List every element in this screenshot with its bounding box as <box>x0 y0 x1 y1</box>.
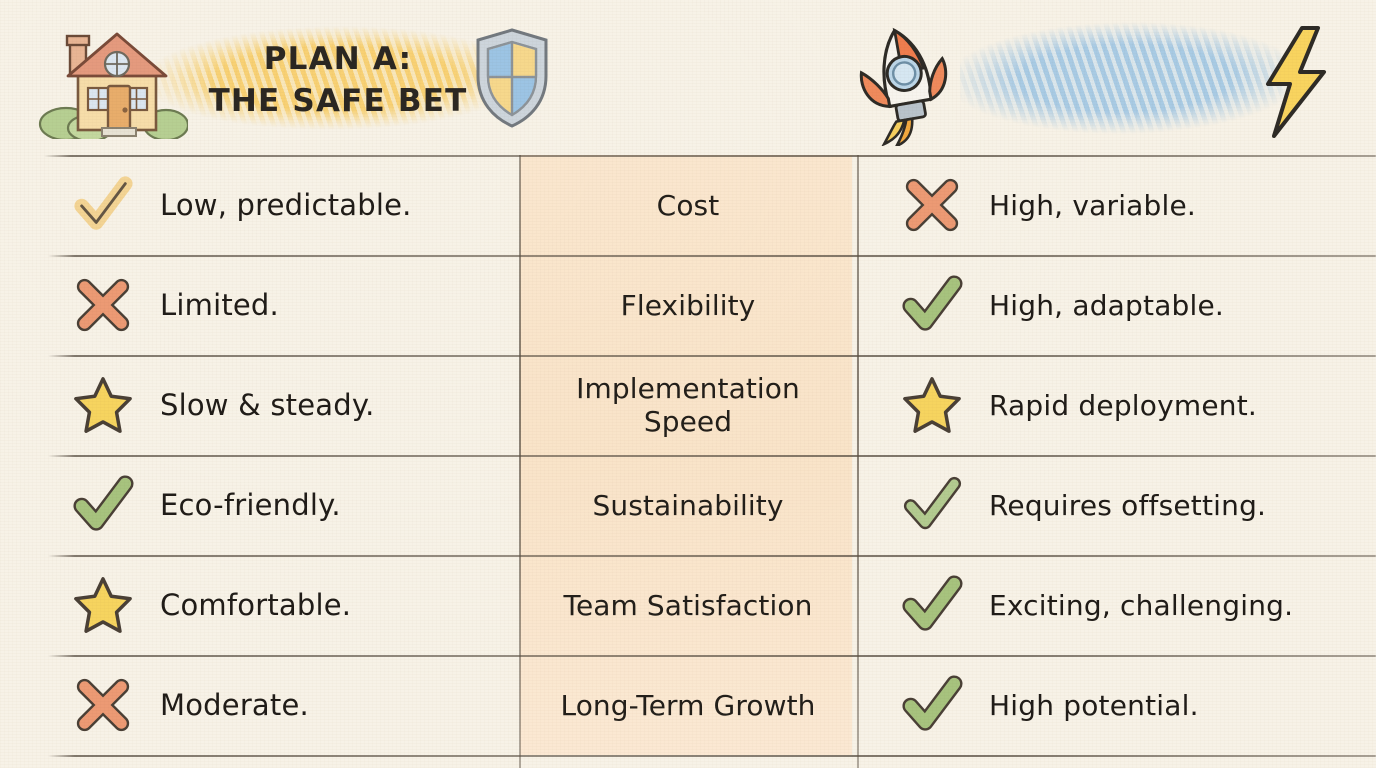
plan-b-value: High, variable. <box>989 189 1196 222</box>
check-green-icon <box>901 474 963 536</box>
table-row: Eco-friendly. Sustainability Requires of… <box>0 455 1376 555</box>
plan-b-value: High, adaptable. <box>989 289 1224 322</box>
criterion-label: Flexibility <box>621 289 756 322</box>
check-green-icon <box>901 674 963 736</box>
criterion-cell: Implementation Speed <box>519 355 857 455</box>
table-row: Comfortable. Team Satisfaction Exciting,… <box>0 555 1376 655</box>
plan-b-cell: High potential. <box>857 655 1376 755</box>
lightning-bolt-icon <box>1256 22 1334 146</box>
criterion-cell: Sustainability <box>519 455 857 555</box>
table-row: Slow & steady. Implementation Speed Rapi… <box>0 355 1376 455</box>
plan-a-value: Moderate. <box>160 688 309 722</box>
criterion-cell: Flexibility <box>519 255 857 355</box>
criterion-label: Sustainability <box>593 489 784 522</box>
plan-b-value: Exciting, challenging. <box>989 589 1293 622</box>
shield-icon <box>472 26 552 134</box>
plan-b-cell: Exciting, challenging. <box>857 555 1376 655</box>
plan-a-cell: Comfortable. <box>0 555 519 655</box>
plan-a-cell: Low, predictable. <box>0 155 519 255</box>
plan-a-value: Limited. <box>160 288 279 322</box>
criterion-cell: Long-Term Growth <box>519 655 857 755</box>
plan-b-value: Requires offsetting. <box>989 489 1266 522</box>
header: PLAN A: THE SAFE BET <box>0 0 1376 155</box>
cross-salmon-icon <box>901 174 963 236</box>
plan-a-value: Comfortable. <box>160 588 351 622</box>
plan-a-value: Low, predictable. <box>160 188 412 222</box>
plan-a-cell: Limited. <box>0 255 519 355</box>
check-green-icon <box>901 274 963 336</box>
comparison-infographic: PLAN A: THE SAFE BET <box>0 0 1376 768</box>
rocket-icon <box>842 22 962 150</box>
star-yellow-icon <box>72 374 134 436</box>
check-green-icon <box>901 574 963 636</box>
plan-b-cell: Rapid deployment. <box>857 355 1376 455</box>
plan-b-cell: High, variable. <box>857 155 1376 255</box>
plan-a-value: Eco-friendly. <box>160 488 341 522</box>
star-yellow-icon <box>901 374 963 436</box>
criterion-label: Implementation Speed <box>576 372 800 438</box>
plan-a-value: Slow & steady. <box>160 388 375 422</box>
check-green-icon <box>72 474 134 536</box>
house-icon <box>38 24 188 143</box>
plan-b-cell: Requires offsetting. <box>857 455 1376 555</box>
comparison-table: Low, predictable. Cost High, variable. <box>0 155 1376 768</box>
plan-a-cell: Eco-friendly. <box>0 455 519 555</box>
criterion-label: Team Satisfaction <box>564 589 813 622</box>
criterion-label: Cost <box>657 189 720 222</box>
plan-b-cell: High, adaptable. <box>857 255 1376 355</box>
check-yellow-icon <box>72 174 134 236</box>
plan-a-cell: Slow & steady. <box>0 355 519 455</box>
plan-a-cell: Moderate. <box>0 655 519 755</box>
criterion-cell: Cost <box>519 155 857 255</box>
cross-salmon-icon <box>72 674 134 736</box>
table-row: Low, predictable. Cost High, variable. <box>0 155 1376 255</box>
criterion-cell: Team Satisfaction <box>519 555 857 655</box>
star-yellow-icon <box>72 574 134 636</box>
plan-b-value: Rapid deployment. <box>989 389 1257 422</box>
cross-salmon-icon <box>72 274 134 336</box>
table-row: Moderate. Long-Term Growth High potentia… <box>0 655 1376 755</box>
row-divider <box>48 755 1376 757</box>
plan-b-highlight-scribble <box>959 20 1291 137</box>
plan-a-title: PLAN A: THE SAFE BET <box>178 38 498 122</box>
criterion-label: Long-Term Growth <box>560 689 815 722</box>
plan-b-value: High potential. <box>989 689 1199 722</box>
table-row: Limited. Flexibility High, adaptable. <box>0 255 1376 355</box>
